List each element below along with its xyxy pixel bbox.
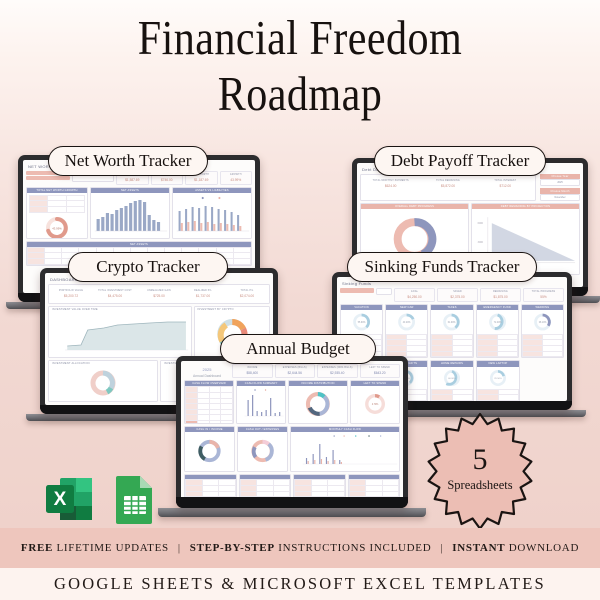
- benefit-item: FREE LIFETIME UPDATES: [21, 542, 169, 554]
- kpi-card: UNREALIZED GAIN$725.00: [137, 288, 181, 300]
- label-text: Crypto Tracker: [96, 257, 199, 277]
- donut-chart: 55.60%: [341, 310, 382, 334]
- kpi-card: TOTAL PROGRESS55%: [523, 288, 564, 302]
- svg-text:43.99%: 43.99%: [52, 226, 62, 230]
- svg-text:66.90%: 66.90%: [448, 378, 455, 380]
- kpi-card: TOTAL INVESTMENT COST$4,475.00: [93, 288, 137, 300]
- donut-chart: [185, 432, 234, 470]
- area-chart: [49, 312, 191, 356]
- svg-text:72.40%: 72.40%: [493, 322, 501, 324]
- donut-chart: 43.99%: [29, 213, 85, 239]
- footer-bar: GOOGLE SHEETS & MICROSOFT EXCEL TEMPLATE…: [0, 568, 600, 600]
- svg-text:4.70%: 4.70%: [372, 405, 378, 407]
- label-crypto-tracker: Crypto Tracker: [68, 252, 228, 282]
- kpi-card: TOTAL INTEREST$712.00: [477, 178, 534, 197]
- kpi-card: EXPENSES (NON-BILLS)$2,935.40: [317, 364, 358, 378]
- sheet-title: Annual Dashboard: [184, 374, 230, 378]
- kpi-card: GROWTH43.99%: [220, 171, 253, 185]
- donut-chart: [289, 386, 347, 422]
- kpi-card: TOTAL P/L$2,074.00: [225, 288, 269, 300]
- label-debt-payoff-tracker: Debt Payoff Tracker: [374, 146, 546, 176]
- donut-chart: 4.70%: [351, 386, 399, 422]
- title-line-2: Roadmap: [42, 70, 558, 118]
- label-text: Sinking Funds Tracker: [365, 257, 520, 277]
- badge-caption: Spreadsheets: [447, 478, 512, 493]
- device-annual-budget: 2025 Annual Dashboard INCOME$58,400 EXPE…: [176, 356, 408, 508]
- year-selector[interactable]: Choose Year 2025: [540, 174, 580, 186]
- title-line-1: Financial Freedom: [42, 14, 558, 62]
- grouped-bar-chart: [173, 193, 251, 237]
- kpi-card: TOTAL MONTHLY PAYMENTS$624.00: [362, 178, 419, 197]
- separator: |: [431, 542, 452, 554]
- svg-text:43.20%: 43.20%: [403, 322, 411, 324]
- donut-chart: 43.20%: [386, 310, 427, 334]
- separator: |: [169, 542, 190, 554]
- benefits-bar: FREE LIFETIME UPDATES | STEP-BY-STEP INS…: [0, 528, 600, 568]
- kpi-card: SAVED$2,375.00: [437, 288, 478, 302]
- donut-chart: 29.50%: [477, 367, 519, 389]
- label-net-worth-tracker: Net Worth Tracker: [48, 146, 208, 176]
- donut-chart: [49, 366, 157, 400]
- kpi-card: GOAL$4,250.00: [394, 288, 435, 302]
- kpi-card: REMAINING$1,875.00: [480, 288, 521, 302]
- svg-text:38.10%: 38.10%: [539, 322, 547, 324]
- page-title: Financial Freedom Roadmap: [0, 14, 600, 118]
- label-text: Annual Budget: [246, 339, 349, 359]
- month-selector[interactable]: Choose Month November: [540, 188, 580, 200]
- kpi-card: EXPENSES (BILLS)$2,644.56: [275, 364, 316, 378]
- svg-text:29.50%: 29.50%: [494, 378, 501, 380]
- label-text: Net Worth Tracker: [65, 151, 192, 171]
- donut-chart: 72.40%: [477, 310, 518, 334]
- svg-text:6000: 6000: [478, 222, 484, 225]
- laptop-screen: 2025 Annual Dashboard INCOME$58,400 EXPE…: [176, 356, 408, 508]
- google-sheets-icon: [112, 472, 158, 526]
- laptop-base: [158, 508, 426, 517]
- donut-chart: 66.90%: [431, 367, 473, 389]
- app-icons-group: X: [42, 472, 158, 526]
- kpi-card: REALIZED P/L$1,737.00: [181, 288, 225, 300]
- bar-chart: [237, 386, 285, 422]
- badge-number: 5: [473, 445, 488, 475]
- bar-chart: [91, 193, 169, 237]
- benefit-item: INSTANT DOWNLOAD: [452, 542, 579, 554]
- spreadsheets-count-badge: 5 Spreadsheets: [422, 412, 538, 528]
- label-annual-budget: Annual Budget: [220, 334, 376, 364]
- donut-chart: [238, 432, 287, 470]
- svg-text:3000: 3000: [478, 241, 484, 244]
- donut-chart: 61.00%: [431, 310, 472, 334]
- budget-year: 2025: [184, 367, 230, 372]
- bar-chart: [291, 432, 399, 470]
- microsoft-excel-icon: X: [42, 472, 96, 526]
- kpi-card: TOTAL REMAINING$5,872.00: [419, 178, 476, 197]
- svg-text:55.60%: 55.60%: [358, 322, 366, 324]
- benefit-item: STEP-BY-STEP INSTRUCTIONS INCLUDED: [190, 542, 432, 554]
- kpi-card: INCOME$58,400: [232, 364, 273, 378]
- label-sinking-funds-tracker: Sinking Funds Tracker: [347, 252, 537, 282]
- kpi-card: LEFT TO SPEND$643.20: [360, 364, 401, 378]
- label-text: Debt Payoff Tracker: [391, 151, 530, 171]
- donut-chart: 38.10%: [522, 310, 563, 334]
- svg-text:61.00%: 61.00%: [448, 322, 456, 324]
- poster-canvas: Financial Freedom Roadmap NET WORTH ASSE…: [0, 0, 600, 600]
- footer-text: GOOGLE SHEETS & MICROSOFT EXCEL TEMPLATE…: [54, 574, 546, 594]
- svg-text:X: X: [54, 489, 67, 510]
- kpi-card: PORTFOLIO VALUE$5,200.72: [49, 288, 93, 300]
- filter-dropdown[interactable]: [376, 288, 392, 295]
